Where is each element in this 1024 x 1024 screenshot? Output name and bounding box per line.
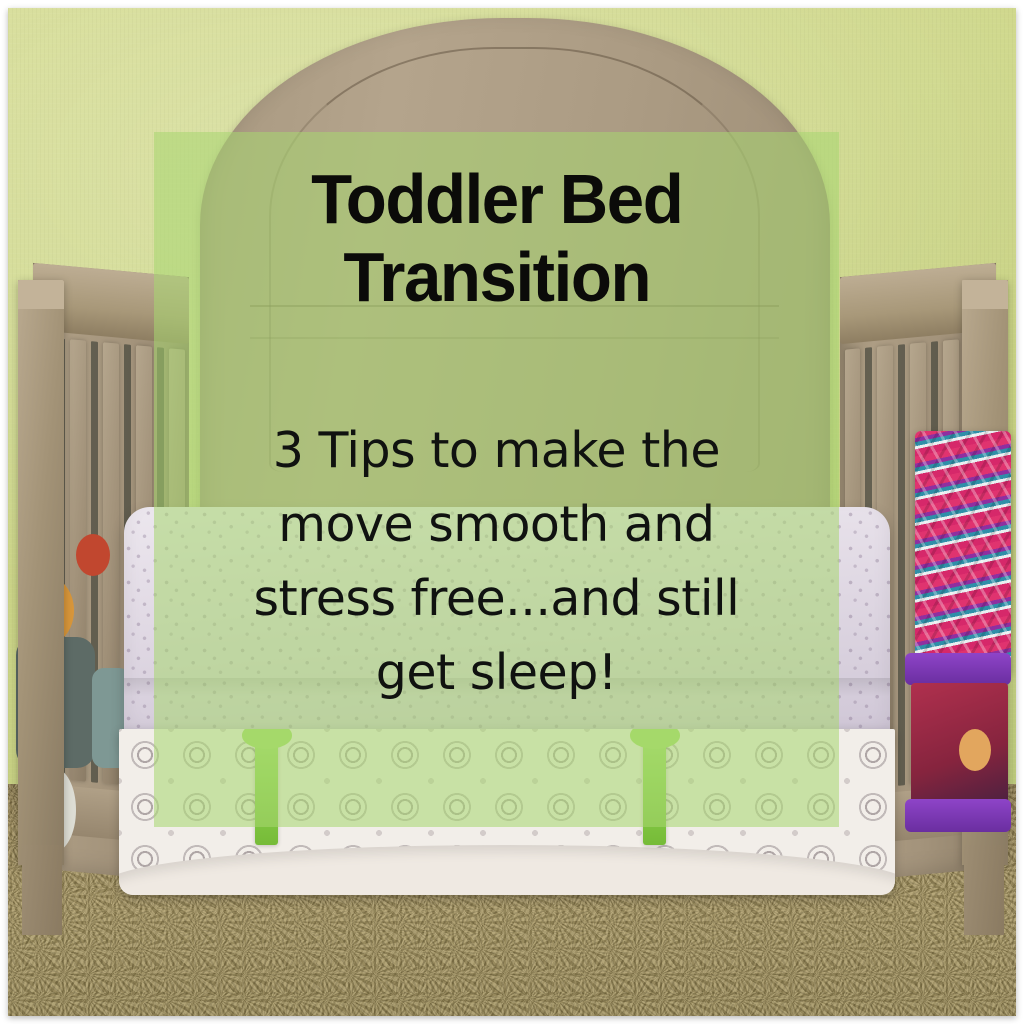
crib-slat-gap [898,344,905,786]
bouncer-rim-top [905,653,1011,685]
pin-graphic-root: Toddler Bed Transition 3 Tips to make th… [0,0,1024,1024]
crib-post-cap-left [18,280,64,309]
bouncer-rim-bottom [905,799,1011,831]
crib-foot-left [22,845,62,936]
subcopy-line-1: 3 Tips to make the [154,414,839,488]
subcopy-line-2: move smooth and [154,488,839,562]
crib-foot-right [964,845,1004,936]
nursery-photo: Toddler Bed Transition 3 Tips to make th… [8,8,1016,1016]
chevron-pattern [915,431,1011,673]
text-block: Toddler Bed Transition 3 Tips to make th… [154,132,839,828]
crib-corner-post-left [18,280,64,865]
subcopy: 3 Tips to make the move smooth and stres… [154,414,839,710]
headline: Toddler Bed Transition [167,160,825,316]
crib-post-cap-right [962,280,1008,309]
headline-line-2: Transition [343,238,650,316]
toy-red [76,534,110,576]
subcopy-line-4: get sleep! [154,636,839,710]
photo-white-frame: Toddler Bed Transition 3 Tips to make th… [8,8,1016,1016]
headline-line-1: Toddler Bed [311,160,682,238]
chevron-hamper [915,431,1011,673]
bouncer-toy [959,729,991,771]
subcopy-line-3: stress free...and still [154,562,839,636]
